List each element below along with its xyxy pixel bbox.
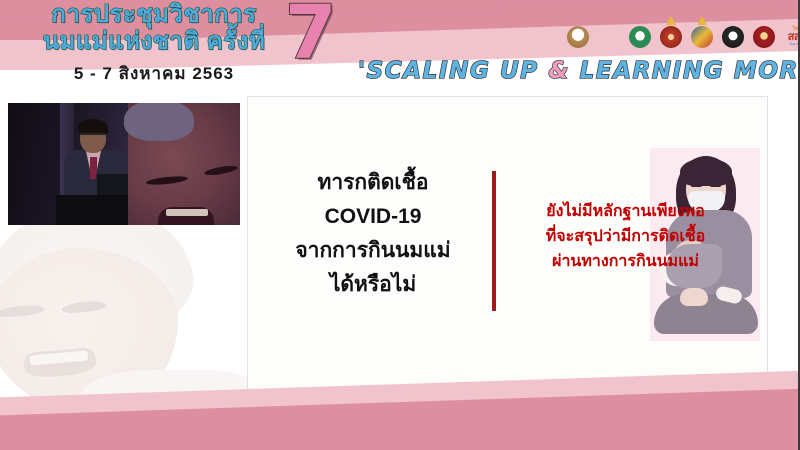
- national-flag-crest-logo: [689, 22, 715, 52]
- mother-hand: [680, 288, 708, 306]
- thaihealth-sss-logo: ไทย สสส Thai Health: [782, 22, 800, 52]
- baby-teeth: [166, 209, 208, 216]
- royal-crown-red-logo: [658, 22, 684, 52]
- question-text: ทารกติดเชื้อ COVID-19 จากการกินนมแม่ ได้…: [262, 166, 484, 302]
- conference-date: 5 - 7 สิงหาคม 2563: [18, 60, 290, 87]
- conference-title: การประชุมวิชาการ นมแม่แห่งชาติ ครั้งที่: [18, 2, 290, 56]
- edition-number: 7: [285, 0, 337, 70]
- tagline-ampersand: &: [548, 58, 570, 84]
- thai-health-green-logo: [627, 22, 653, 52]
- conference-tagline: 'SCALING UP & LEARNING MORE': [358, 58, 788, 84]
- black-seal-logo: [720, 22, 746, 52]
- speaker-podium-photo: [8, 103, 240, 225]
- speaker-glasses: [80, 133, 106, 140]
- tagline-prefix: 'SCALING UP: [358, 58, 548, 84]
- mother-hair-top: [680, 158, 732, 186]
- sss-logo-sub-text: Thai Health: [789, 43, 800, 47]
- question-line-3: จากการกินนมแม่: [262, 234, 484, 268]
- mother-eye-right: [710, 184, 721, 187]
- sponsor-logo-row: ไทย สสส Thai Health: [565, 22, 800, 52]
- baby-hat-overlay: [124, 103, 194, 141]
- question-line-4: ได้หรือไม่: [262, 268, 484, 302]
- answer-line-2: ที่จะสรุปว่ามีการติดเชื้อ: [498, 225, 753, 250]
- conference-title-line2: นมแม่แห่งชาติ ครั้งที่: [18, 29, 290, 56]
- answer-line-3: ผ่านทางการกินนมแม่: [498, 250, 753, 275]
- tagline-suffix: LEARNING MORE': [570, 58, 800, 84]
- ministry-public-health-logo: [596, 22, 622, 52]
- mother-eye-left: [691, 184, 702, 187]
- red-crest-logo: [751, 22, 777, 52]
- royal-emblem-logo: [565, 22, 591, 52]
- slide-screenshot: การประชุมวิชาการ นมแม่แห่งชาติ ครั้งที่ …: [0, 0, 800, 450]
- question-line-2: COVID-19: [262, 200, 484, 234]
- answer-line-1: ยังไม่มีหลักฐานเพียงพอ: [498, 200, 753, 225]
- vertical-divider: [492, 171, 496, 311]
- question-line-1: ทารกติดเชื้อ: [262, 166, 484, 200]
- conference-title-line1: การประชุมวิชาการ: [51, 1, 256, 28]
- answer-text: ยังไม่มีหลักฐานเพียงพอ ที่จะสรุปว่ามีการ…: [498, 200, 753, 274]
